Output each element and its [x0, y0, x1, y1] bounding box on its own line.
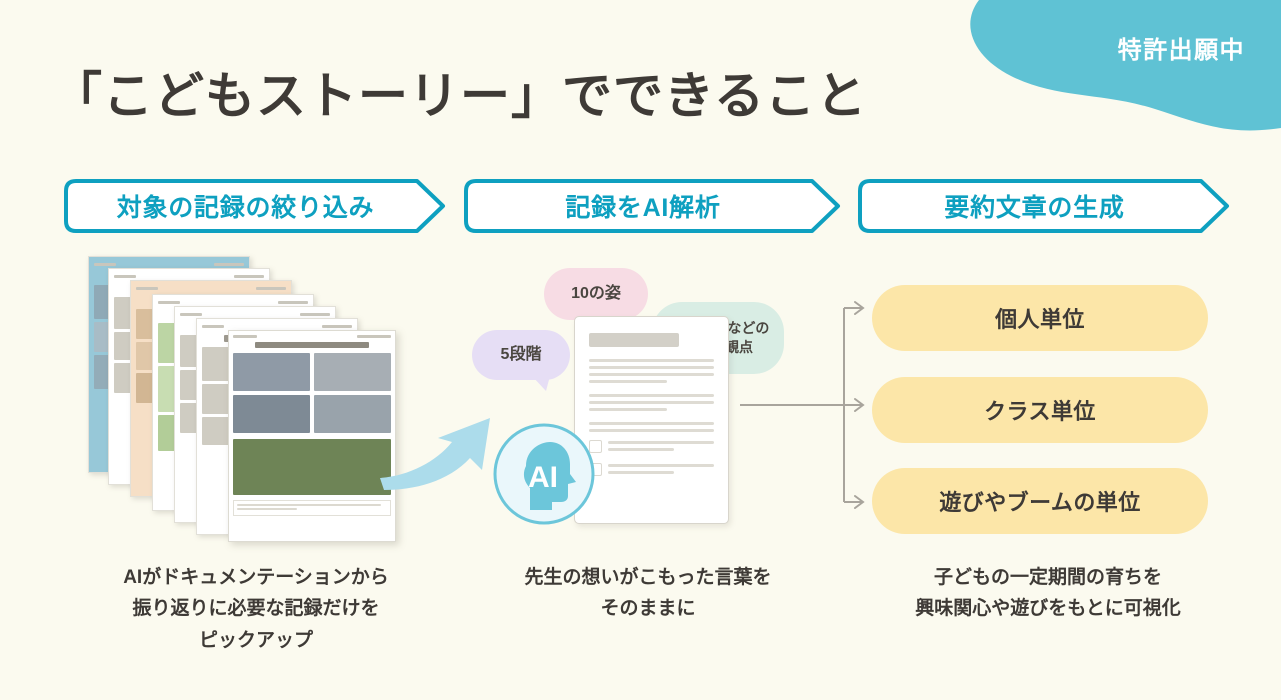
slide-canvas: 特許出願中 「こどもストーリー」でできること 対象の記録の絞り込み 記録をAI解… — [0, 0, 1281, 700]
output-pill-class[interactable]: クラス単位 — [872, 377, 1208, 443]
bubble-tail-icon — [532, 376, 550, 391]
document-checkbox-row — [589, 440, 714, 455]
analysis-document[interactable] — [574, 316, 729, 524]
document-checkbox-row — [589, 463, 714, 478]
page-title: 「こどもストーリー」でできること — [52, 56, 867, 128]
documentation-stack[interactable] — [88, 252, 388, 542]
front-document[interactable] — [228, 330, 396, 542]
bubble-label: 5段階 — [501, 344, 542, 366]
document-heading-bar — [589, 333, 679, 347]
output-pill-play[interactable]: 遊びやブームの単位 — [872, 468, 1208, 534]
branch-arrows-icon — [740, 290, 870, 520]
bubble-five-levels: 5段階 — [472, 330, 570, 380]
ai-badge-label: AI — [528, 461, 558, 494]
blob-shape-icon — [941, 0, 1281, 145]
step-header-label: 要約文章の生成 — [944, 188, 1142, 224]
bubble-ten-forms: 10の姿 — [544, 268, 648, 320]
step-header-summary[interactable]: 要約文章の生成 — [856, 177, 1231, 235]
step-caption-summary: 子どもの一定期間の育ちを 興味関心や遊びをもとに可視化 — [848, 562, 1248, 625]
front-document-title — [255, 342, 369, 348]
step-caption-analyze: 先生の想いがこもった言葉を そのままに — [452, 562, 844, 625]
step-header-label: 記録をAI解析 — [565, 188, 738, 224]
patent-badge-blob — [941, 0, 1281, 145]
output-pill-label: 遊びやブームの単位 — [939, 485, 1140, 517]
output-pill-label: 個人単位 — [995, 302, 1085, 334]
ai-head-icon: AI — [492, 422, 596, 526]
output-pill-label: クラス単位 — [984, 394, 1096, 426]
step-header-analyze[interactable]: 記録をAI解析 — [462, 177, 842, 235]
step-header-label: 対象の記録の絞り込み — [117, 188, 393, 224]
output-pill-individual[interactable]: 個人単位 — [872, 285, 1208, 351]
bubble-label: 10の姿 — [571, 283, 621, 305]
step-caption-filter: AIがドキュメンテーションから 振り返りに必要な記録だけを ピックアップ — [60, 562, 452, 656]
step-header-filter[interactable]: 対象の記録の絞り込み — [62, 177, 447, 235]
patent-pending-badge: 特許出願中 — [1118, 30, 1245, 65]
